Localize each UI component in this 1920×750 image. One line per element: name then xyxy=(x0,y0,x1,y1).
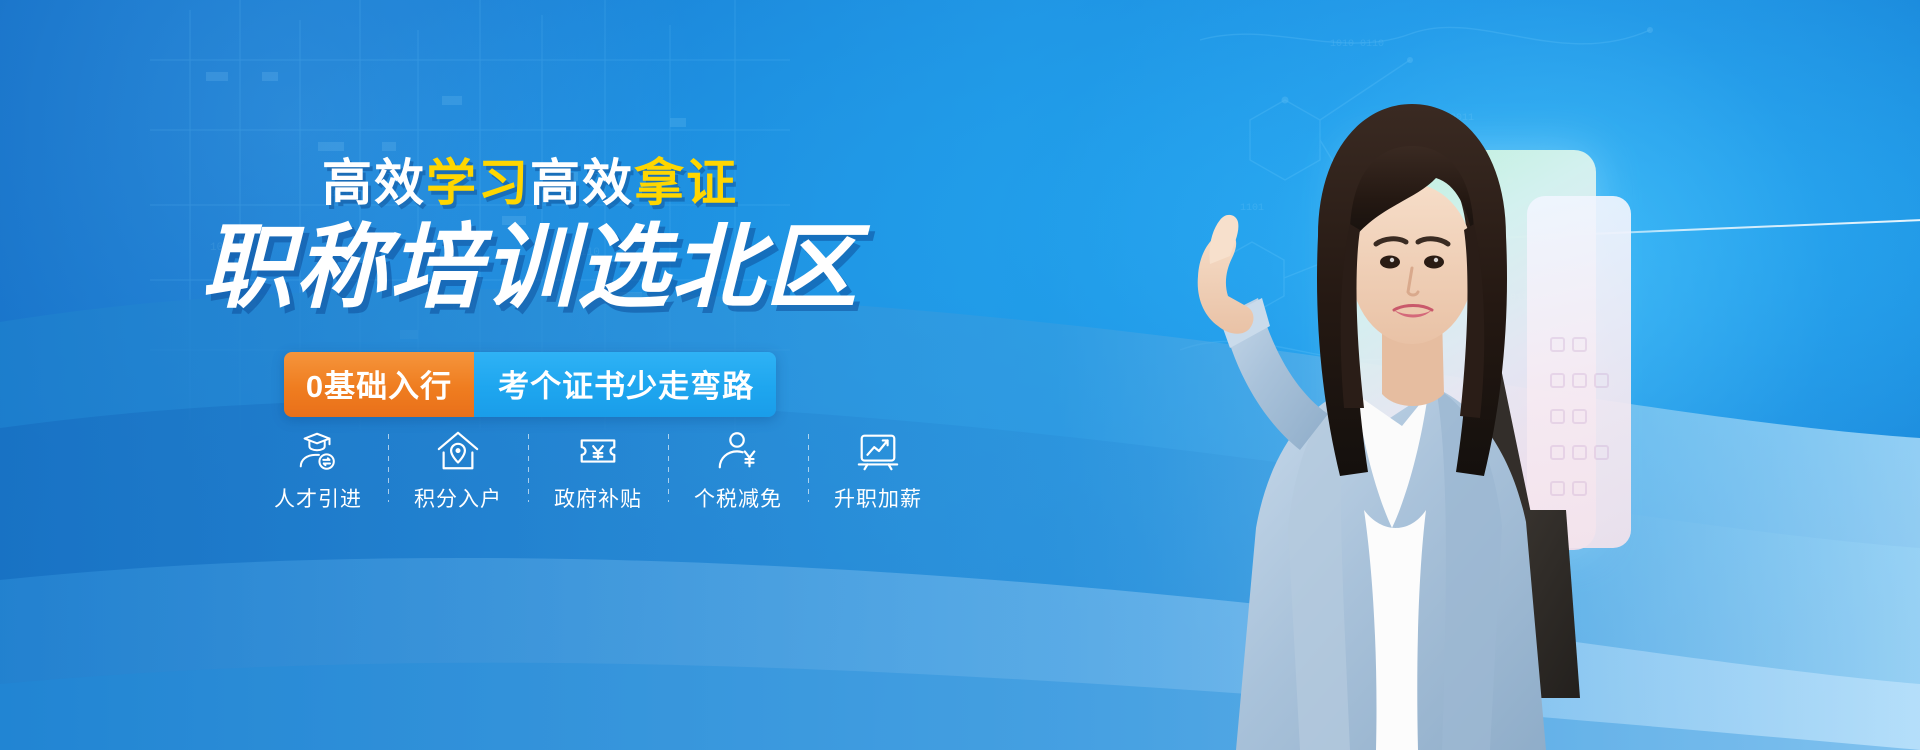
voucher-yuan-icon xyxy=(575,428,621,474)
growth-chart-icon xyxy=(855,428,901,474)
feature-item-subsidy[interactable]: 政府补贴 xyxy=(528,428,668,513)
feature-label: 个税减免 xyxy=(694,483,782,513)
feature-label: 政府补贴 xyxy=(554,483,642,513)
feature-label: 积分入户 xyxy=(414,483,502,513)
headline-accent-char: 选 xyxy=(577,222,671,314)
badge-row: 0基础入行 考个证书少走弯路 xyxy=(0,352,1060,417)
kicker-seg-3: 高效 xyxy=(530,155,634,211)
kicker-text: 高效学习高效拿证 xyxy=(0,158,1060,208)
feature-item-residency[interactable]: 积分入户 xyxy=(388,428,528,513)
badge-primary[interactable]: 0基础入行 xyxy=(284,352,474,417)
badge-secondary[interactable]: 考个证书少走弯路 xyxy=(474,352,776,417)
feature-label: 人才引进 xyxy=(274,483,362,513)
feature-item-taxcut[interactable]: 个税减免 xyxy=(668,428,808,513)
graduate-talent-icon xyxy=(295,428,341,474)
feature-item-talent[interactable]: 人才引进 xyxy=(248,428,388,513)
badge-group[interactable]: 0基础入行 考个证书少走弯路 xyxy=(284,352,776,417)
banner-content: 高效学习高效拿证 职称培训选北区 0基础入行 考个证书少走弯路 xyxy=(0,0,1060,750)
person-yuan-icon xyxy=(715,428,761,474)
feature-item-promotion[interactable]: 升职加薪 xyxy=(808,428,948,513)
headline-part-2: 北区 xyxy=(671,217,859,319)
feature-label: 升职加薪 xyxy=(834,483,922,513)
headline-text: 职称培训选北区 xyxy=(0,222,1060,314)
svg-text:1010 0110: 1010 0110 xyxy=(1330,39,1384,50)
presenter-photo xyxy=(1150,58,1650,750)
headline-part-1: 职称培训 xyxy=(201,217,577,319)
house-pin-icon xyxy=(435,428,481,474)
kicker-seg-1: 高效 xyxy=(322,155,426,211)
feature-list: 人才引进 积分入户 政府补贴 xyxy=(248,428,948,513)
kicker-seg-2: 学习 xyxy=(426,155,530,211)
kicker-seg-4: 拿证 xyxy=(634,155,738,211)
promo-banner: 1010110 1001110 0101 1010 01100011 xyxy=(0,0,1920,750)
